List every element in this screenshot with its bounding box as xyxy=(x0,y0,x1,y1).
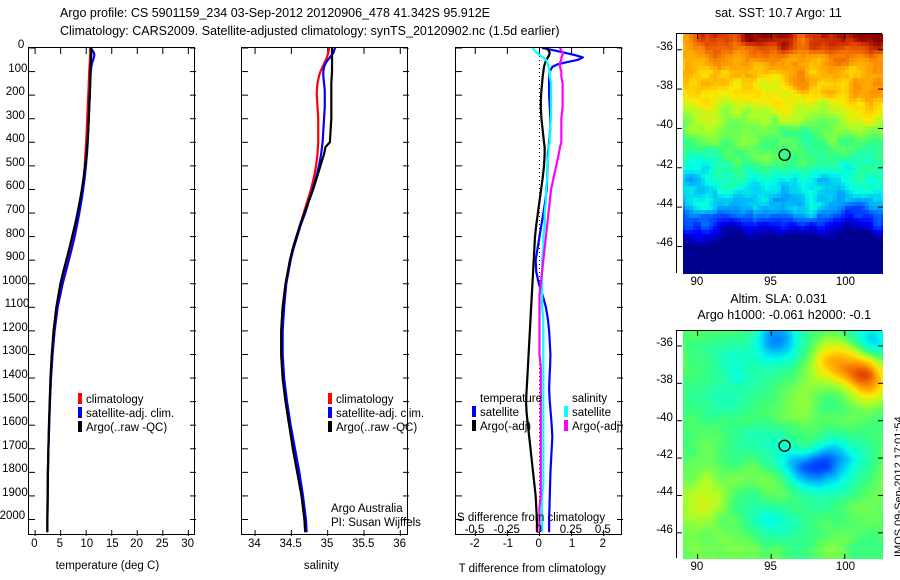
depth-tick-1900: 1900 xyxy=(2,487,28,499)
sla-lon-90: 90 xyxy=(691,561,704,573)
depth-tick-200: 200 xyxy=(6,86,25,98)
depth-tick-400: 400 xyxy=(6,133,25,145)
figure-title-line1: Argo profile: CS 5901159_234 03-Sep-2012… xyxy=(60,6,490,20)
temperature-x-axis-label: temperature (deg C) xyxy=(56,560,160,572)
sst-lat--36: -36 xyxy=(656,41,673,53)
legend-label: Argo(..raw -QC) xyxy=(336,422,417,434)
figure-root: Argo profile: CS 5901159_234 03-Sep-2012… xyxy=(0,0,900,580)
legend-swatch-icon xyxy=(564,406,568,417)
salinity-x-tick-34: 34 xyxy=(248,538,261,550)
depth-tick-800: 800 xyxy=(6,228,25,240)
sst-lat--42: -42 xyxy=(656,159,673,171)
legend-swatch-icon xyxy=(78,393,82,404)
difference-s-x-tick-0: 0 xyxy=(535,524,541,536)
legend-swatch-icon xyxy=(472,406,476,417)
legend-item: climatology xyxy=(78,393,174,407)
figure-title-line2: Climatology: CARS2009. Satellite-adjuste… xyxy=(60,24,560,38)
sla-lon-95: 95 xyxy=(764,561,777,573)
depth-tick-1600: 1600 xyxy=(2,416,28,428)
sla-map-marker-overlay xyxy=(677,331,883,559)
legend-group: temperaturesatelliteArgo(-adj) xyxy=(472,393,542,434)
legend-label: Argo(-adj) xyxy=(572,421,623,433)
difference-salinity-axis-label: S difference from climatology xyxy=(457,512,605,524)
salinity-legend: climatologysatellite-adj. clim.Argo(..ra… xyxy=(328,393,424,435)
salinity-x-tick-35.5: 35.5 xyxy=(352,538,374,550)
legend-item: satellite xyxy=(472,406,542,420)
difference-profile-panel xyxy=(455,47,622,535)
difference-t-x-tick-1: 1 xyxy=(569,538,575,550)
legend-item: satellite-adj. clim. xyxy=(328,407,424,421)
legend-label: Argo(-adj) xyxy=(480,421,531,433)
legend-label: climatology xyxy=(86,394,144,406)
difference-s-x-tick--0.5: -0.5 xyxy=(465,524,485,536)
salinity-profile-panel xyxy=(241,47,408,535)
legend-item: climatology xyxy=(328,393,424,407)
sst-lat--38: -38 xyxy=(656,80,673,92)
depth-tick-700: 700 xyxy=(6,204,25,216)
difference-s-x-tick-0.5: 0.5 xyxy=(595,524,611,536)
legend-swatch-icon xyxy=(78,407,82,418)
temperature-x-tick-25: 25 xyxy=(156,538,169,550)
legend-swatch-icon xyxy=(564,420,568,431)
legend-item: Argo(-adj) xyxy=(564,420,623,434)
legend-item: Argo(..raw -QC) xyxy=(78,421,174,435)
legend-swatch-icon xyxy=(472,420,476,431)
depth-tick-1300: 1300 xyxy=(2,345,28,357)
legend-label: satellite xyxy=(572,407,611,419)
difference-t-x-tick--2: -2 xyxy=(469,538,479,550)
sst-map-marker-overlay xyxy=(677,34,883,274)
depth-tick-500: 500 xyxy=(6,157,25,169)
legend-swatch-icon xyxy=(328,407,332,418)
legend-item: Argo(..raw -QC) xyxy=(328,421,424,435)
sla-map-title-line1: Altim. SLA: 0.031 xyxy=(730,292,827,306)
sla-lat--42: -42 xyxy=(656,449,673,461)
depth-tick-1100: 1100 xyxy=(5,298,30,310)
temperature-legend: climatologysatellite-adj. clim.Argo(..ra… xyxy=(78,393,174,435)
depth-tick-900: 900 xyxy=(6,251,25,263)
temperature-x-tick-15: 15 xyxy=(106,538,119,550)
sla-map-title-line2: Argo h1000: -0.061 h2000: -0.1 xyxy=(697,308,871,322)
legend-label: satellite-adj. clim. xyxy=(336,408,424,420)
sst-map-title: sat. SST: 10.7 Argo: 11 xyxy=(715,6,842,20)
imos-timestamp: IMOS 09-Sep-2012 17:01:54 xyxy=(893,416,900,557)
depth-tick-1400: 1400 xyxy=(2,369,28,381)
sla-lat--38: -38 xyxy=(656,374,673,386)
temperature-x-tick-30: 30 xyxy=(181,538,194,550)
sla-lon-100: 100 xyxy=(836,561,855,573)
sla-lat--36: -36 xyxy=(656,337,673,349)
salinity-x-tick-35: 35 xyxy=(321,538,334,550)
temperature-x-tick-0: 0 xyxy=(31,538,37,550)
legend-label: satellite xyxy=(480,407,519,419)
legend-label: climatology xyxy=(336,394,394,406)
sst-lat--40: -40 xyxy=(656,119,673,131)
salinity-x-axis-label: salinity xyxy=(304,560,339,572)
legend-swatch-icon xyxy=(328,421,332,432)
sla-map-panel xyxy=(676,330,882,558)
depth-tick-600: 600 xyxy=(6,180,25,192)
depth-tick-1500: 1500 xyxy=(2,393,28,405)
depth-tick-300: 300 xyxy=(6,110,25,122)
depth-tick-1000: 1000 xyxy=(2,275,28,287)
legend-item: satellite-adj. clim. xyxy=(78,407,174,421)
temperature-x-tick-10: 10 xyxy=(80,538,93,550)
legend-group-heading: salinity xyxy=(572,393,623,406)
sst-lat--44: -44 xyxy=(656,198,673,210)
difference-t-x-tick-2: 2 xyxy=(600,538,606,550)
legend-group-heading: temperature xyxy=(480,393,542,406)
difference-s-x-tick-0.25: 0.25 xyxy=(560,524,582,536)
temperature-plot-area xyxy=(29,48,196,536)
depth-tick-100: 100 xyxy=(8,63,27,75)
sst-lon-90: 90 xyxy=(691,276,704,288)
salinity-plot-area xyxy=(242,48,409,536)
temperature-x-tick-20: 20 xyxy=(130,538,143,550)
sla-lat--40: -40 xyxy=(656,412,673,424)
credit-pi: PI: Susan Wijffels xyxy=(331,517,421,529)
depth-tick-0: 0 xyxy=(18,39,24,51)
salinity-x-tick-36: 36 xyxy=(393,538,406,550)
legend-label: Argo(..raw -QC) xyxy=(86,422,167,434)
salinity-x-tick-34.5: 34.5 xyxy=(279,538,301,550)
difference-t-x-tick--1: -1 xyxy=(503,538,513,550)
sst-map-panel xyxy=(676,33,882,273)
temperature-x-tick-5: 5 xyxy=(57,538,63,550)
difference-plot-area xyxy=(456,48,623,536)
difference-t-x-tick-0: 0 xyxy=(535,538,541,550)
depth-tick-1700: 1700 xyxy=(2,440,28,452)
depth-tick-1800: 1800 xyxy=(2,463,28,475)
temperature-profile-panel xyxy=(28,47,195,535)
legend-item: satellite xyxy=(564,406,623,420)
sla-lat--44: -44 xyxy=(656,486,673,498)
legend-swatch-icon xyxy=(78,421,82,432)
sst-lon-95: 95 xyxy=(764,276,777,288)
sst-lon-100: 100 xyxy=(836,276,855,288)
depth-tick-2000: 2000 xyxy=(0,510,25,522)
legend-swatch-icon xyxy=(328,393,332,404)
credit-org: Argo Australia xyxy=(331,503,403,515)
difference-legend: temperaturesatelliteArgo(-adj)salinitysa… xyxy=(472,393,623,434)
difference-s-x-tick--0.25: -0.25 xyxy=(494,524,520,536)
difference-temperature-axis-label: T difference from climatology xyxy=(459,563,606,575)
depth-tick-1200: 1200 xyxy=(2,322,28,334)
sla-lat--46: -46 xyxy=(656,524,673,536)
legend-label: satellite-adj. clim. xyxy=(86,408,174,420)
legend-item: Argo(-adj) xyxy=(472,420,542,434)
legend-group: salinitysatelliteArgo(-adj) xyxy=(564,393,623,434)
sst-lat--46: -46 xyxy=(656,237,673,249)
